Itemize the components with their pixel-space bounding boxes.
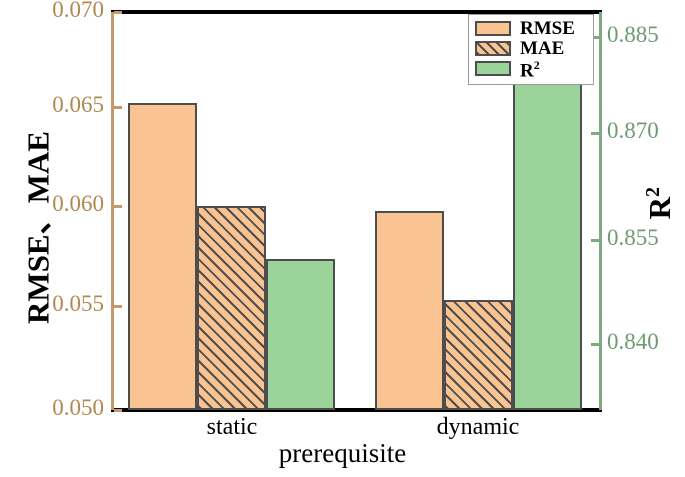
x-tick-label-dynamic: dynamic [398, 414, 558, 441]
legend-item-mae[interactable]: MAE [475, 39, 588, 58]
legend-item-r[interactable]: R2 [475, 59, 588, 78]
y-right-tick-mark [591, 132, 599, 135]
y-axis-right-spine [599, 12, 602, 410]
y-right-tick-label: 0.855 [607, 225, 685, 251]
legend-label: RMSE [520, 19, 575, 38]
chart-figure: RMSE、MAE R2 0.0700.0650.0600.0550.050 0.… [0, 0, 685, 477]
y-right-tick-mark [591, 239, 599, 242]
legend-label-superscript: 2 [534, 58, 540, 72]
legend-swatch-mae [475, 41, 511, 56]
y-right-tick-label: 0.840 [607, 329, 685, 355]
y-axis-left-spine [111, 12, 114, 410]
bar-static-mae [197, 206, 266, 410]
chart-legend: RMSEMAER2 [468, 14, 594, 85]
y-left-tick-label: 0.055 [8, 291, 104, 317]
y-right-tick-mark [591, 343, 599, 346]
legend-swatch-rmse [475, 21, 511, 36]
bar-static-rmse [128, 103, 197, 410]
x-tick-label-static: static [152, 414, 312, 441]
y-left-tick-mark [114, 106, 122, 109]
bar-dynamic-mae [444, 300, 513, 410]
y-right-tick-label: 0.870 [607, 118, 685, 144]
legend-item-rmse[interactable]: RMSE [475, 19, 588, 38]
y-left-tick-mark [114, 409, 122, 412]
x-axis-title: prerequisite [0, 438, 685, 469]
legend-label: R2 [520, 56, 540, 80]
y-left-tick-label: 0.060 [8, 191, 104, 217]
bar-dynamic-r2 [513, 72, 582, 410]
y-axis-right-title-base: R [642, 197, 677, 219]
y-left-tick-mark [114, 11, 122, 14]
y-axis-right-title-sup: 2 [642, 187, 664, 197]
y-left-tick-mark [114, 305, 122, 308]
legend-swatch-r2 [475, 61, 511, 76]
y-left-tick-label: 0.070 [8, 0, 104, 23]
legend-label: MAE [520, 39, 564, 58]
y-left-tick-mark [114, 205, 122, 208]
bar-static-r2 [266, 259, 335, 410]
y-axis-left-title: RMSE、MAE [13, 98, 58, 358]
bar-dynamic-rmse [375, 211, 444, 410]
y-right-tick-label: 0.885 [607, 22, 685, 48]
y-left-tick-label: 0.050 [8, 395, 104, 421]
y-left-tick-label: 0.065 [8, 92, 104, 118]
